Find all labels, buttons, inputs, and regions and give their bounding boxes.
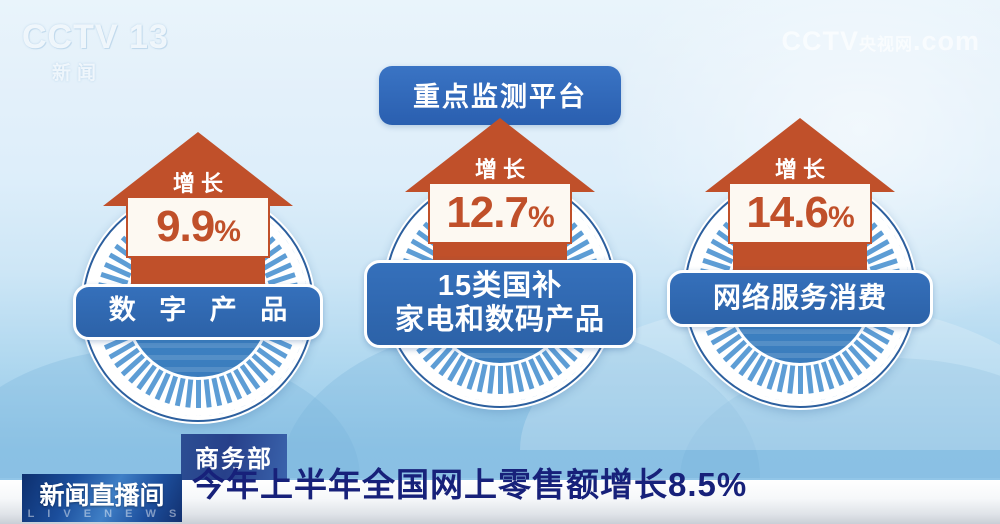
cctv13-logo: CCTV 13 新闻 (22, 18, 182, 84)
up-arrow-icon-0: 增长 9.9% (103, 132, 293, 304)
program-badge: 新闻直播间 L I V E N E W S (22, 474, 182, 522)
badge-label-1-line-0: 15类国补 (377, 269, 623, 303)
badge-label-0-line-0: 数 字 产 品 (92, 295, 304, 327)
percent-symbol-1: % (528, 201, 554, 234)
badge-label-1-line-1: 家电和数码产品 (377, 303, 623, 337)
percent-box-1: 12.7% (428, 182, 572, 244)
badge-digital-products: 增长 9.9% 数 字 产 品 (48, 132, 348, 432)
watermark-chinese: 央视网 (859, 35, 913, 54)
percent-symbol-0: % (214, 215, 240, 248)
percent-number-1: 12.7 (446, 188, 528, 237)
badge-label-1: 15类国补 家电和数码产品 (364, 260, 636, 348)
cctv-com-watermark: CCTV央视网.com (781, 26, 980, 57)
lower-third: 商务部 今年上半年全国网上零售额增长8.5% 新闻直播间 L I V E N E… (0, 440, 1000, 524)
broadcast-screen: CCTV 13 新闻 CCTV央视网.com 重点监测平台 增长 (0, 0, 1000, 524)
badge-group: 增长 9.9% 数 字 产 品 (0, 118, 1000, 418)
growth-label-1: 增长 (405, 152, 595, 184)
percent-number-0: 9.9 (156, 202, 214, 251)
watermark-domain: .com (913, 26, 980, 56)
cctv13-logo-subtitle: 新闻 (52, 58, 182, 85)
growth-label-2: 增长 (705, 152, 895, 184)
up-arrow-icon-2: 增长 14.6% (705, 118, 895, 290)
program-name: 新闻直播间 (22, 476, 182, 512)
percent-number-2: 14.6 (746, 188, 828, 237)
badge-subsidized-appliances: 增长 12.7% 15类国补 家电和数码产品 (350, 118, 650, 418)
badge-online-services: 增长 14.6% 网络服务消费 (650, 118, 950, 418)
watermark-latin: CCTV (781, 26, 859, 56)
program-subtitle: L I V E N E W S (22, 508, 182, 520)
badge-label-2-line-0: 网络服务消费 (686, 281, 914, 314)
percent-value-2: 14.6% (746, 191, 853, 235)
chart-title-pill: 重点监测平台 (379, 66, 621, 125)
percent-symbol-2: % (828, 201, 854, 234)
percent-box-2: 14.6% (728, 182, 872, 244)
percent-box-0: 9.9% (126, 196, 270, 258)
badge-label-2: 网络服务消费 (667, 270, 933, 327)
badge-label-0: 数 字 产 品 (73, 284, 323, 340)
cctv13-logo-text: CCTV 13 (22, 18, 182, 56)
percent-value-1: 12.7% (446, 191, 553, 235)
percent-value-0: 9.9% (156, 205, 240, 249)
growth-label-0: 增长 (103, 166, 293, 198)
headline-text: 今年上半年全国网上零售额增长8.5% (192, 458, 747, 506)
